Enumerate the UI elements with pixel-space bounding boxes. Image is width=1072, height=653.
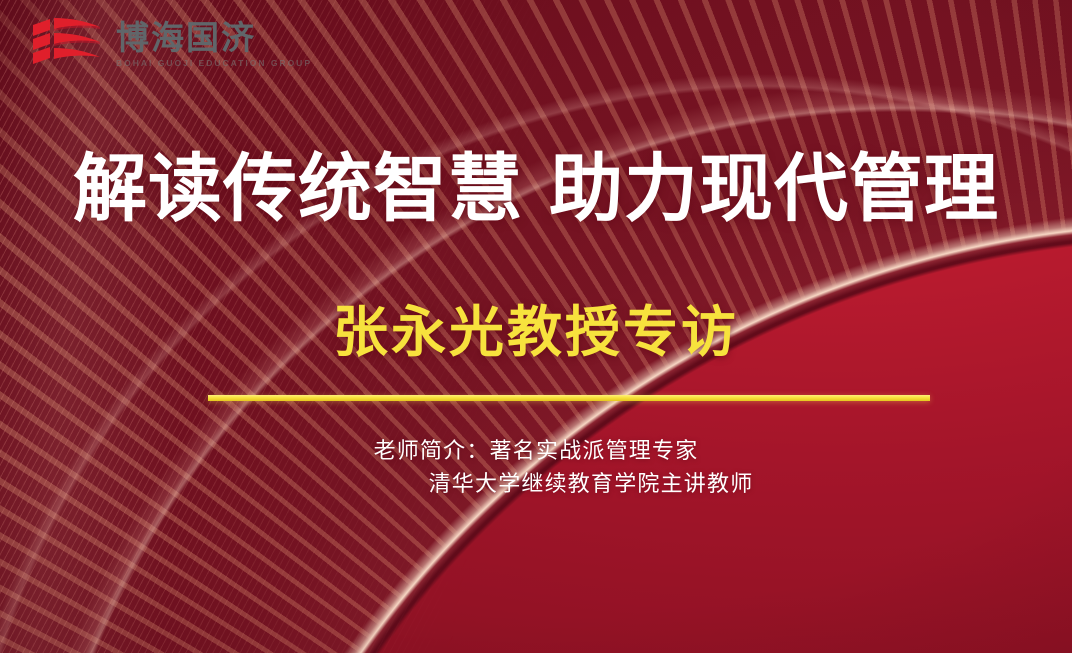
speaker-bio-line-2: 清华大学继续教育学院主讲教师: [0, 467, 1072, 500]
title-part-2: 助力现代管理: [549, 147, 999, 230]
page-title: 解读传统智慧助力现代管理: [0, 152, 1072, 226]
speaker-bio-line-1: 老师简介：著名实战派管理专家: [0, 434, 1072, 467]
title-part-1: 解读传统智慧: [73, 147, 523, 230]
poster-canvas: 博海国济 BOHAI GUOJI EDUCATION GROUP 解读传统智慧助…: [0, 0, 1072, 653]
speaker-bio-text-1: 著名实战派管理专家: [490, 438, 699, 463]
speaker-bio: 老师简介：著名实战派管理专家 清华大学继续教育学院主讲教师: [0, 434, 1072, 500]
poster-subtitle: 张永光教授专访: [0, 305, 1072, 360]
speaker-bio-label: 老师简介：: [374, 438, 490, 463]
yellow-divider-rule: [208, 395, 930, 401]
poster-content: 解读传统智慧助力现代管理 张永光教授专访 老师简介：著名实战派管理专家 清华大学…: [0, 0, 1072, 653]
speaker-bio-text-2: 清华大学继续教育学院主讲教师: [429, 471, 754, 496]
